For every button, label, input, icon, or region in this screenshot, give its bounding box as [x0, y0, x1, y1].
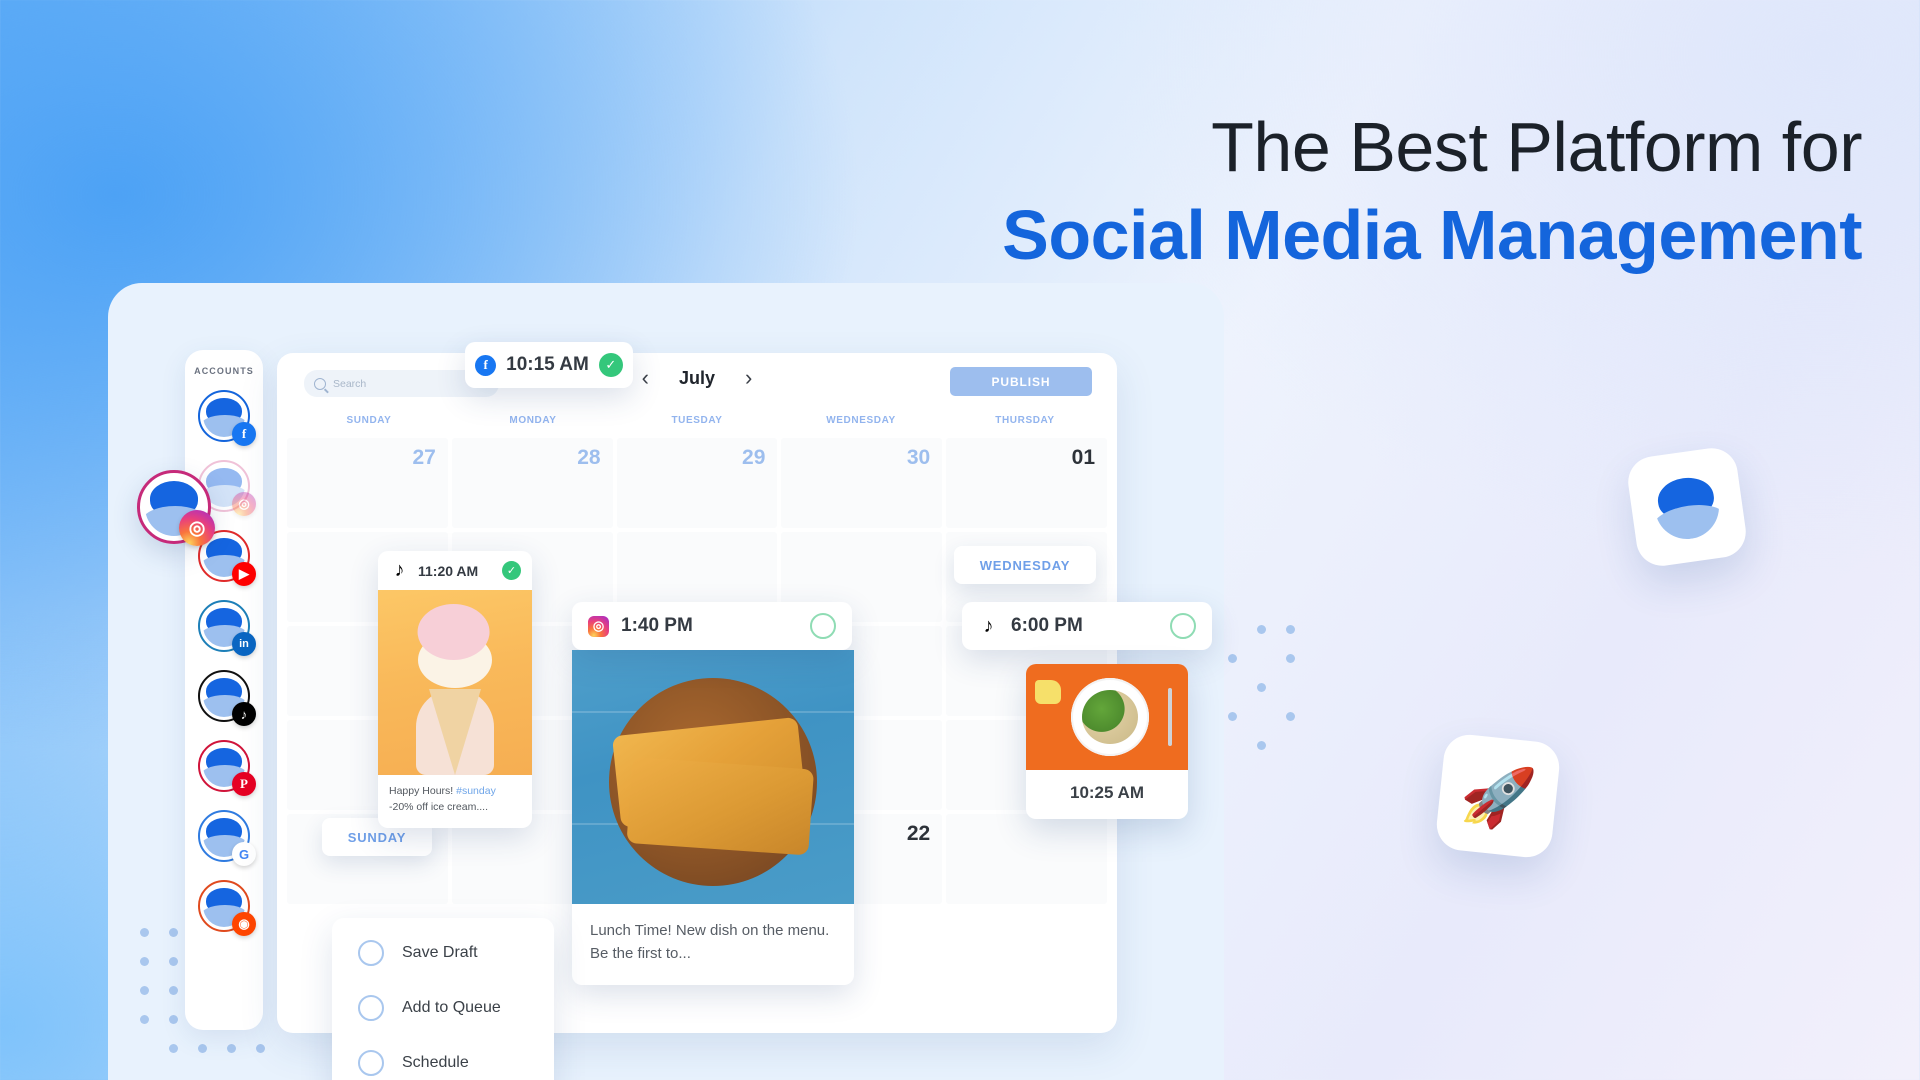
caption-text: Happy Hours!	[389, 785, 456, 797]
decorative-dots-right	[1228, 625, 1295, 750]
circle-outline-icon	[810, 613, 836, 639]
chevron-left-icon[interactable]: ‹	[642, 367, 649, 389]
post-image-ice-cream	[378, 590, 532, 775]
post-image-salad	[1026, 664, 1188, 770]
post-card-header: ♪ 11:20 AM ✓	[378, 551, 532, 590]
account-item-linkedin[interactable]: in	[198, 600, 250, 652]
current-month-label: July	[679, 368, 715, 389]
post-card-header-instagram[interactable]: ◎ 1:40 PM	[572, 602, 852, 650]
tiktok-icon: ♪	[232, 702, 256, 726]
action-label: Save Draft	[402, 944, 478, 962]
post-time: 1:40 PM	[621, 615, 693, 637]
linkedin-icon: in	[232, 632, 256, 656]
post-card-tiktok-morning[interactable]: ♪ 11:20 AM ✓ Happy Hours! #sunday -20% o…	[378, 551, 532, 828]
calendar-cell[interactable]: 27	[287, 438, 448, 528]
account-item-pinterest[interactable]: P	[198, 740, 250, 792]
pinterest-icon: P	[232, 772, 256, 796]
action-schedule[interactable]: Schedule	[358, 1050, 554, 1076]
check-circle-icon: ✓	[502, 561, 521, 580]
check-circle-icon: ✓	[599, 353, 623, 377]
account-item-google[interactable]: G	[198, 810, 250, 862]
day-header-monday: MONDAY	[451, 415, 615, 438]
post-time: 10:15 AM	[506, 354, 589, 376]
google-icon: G	[232, 842, 256, 866]
day-chip-wednesday[interactable]: WEDNESDAY	[954, 546, 1096, 584]
day-number: 29	[742, 446, 765, 470]
rocket-icon: 🚀	[1434, 732, 1561, 859]
headline-line-2: Social Media Management	[1002, 196, 1862, 274]
post-caption: Lunch Time! New dish on the menu. Be the…	[572, 904, 854, 985]
accounts-sidebar: ACCOUNTS f ◎ ▶ in	[185, 350, 263, 1030]
day-header-tuesday: TUESDAY	[615, 415, 779, 438]
day-header-wednesday: WEDNESDAY	[779, 415, 943, 438]
radio-icon[interactable]	[358, 995, 384, 1021]
reddit-icon: ◉	[232, 912, 256, 936]
day-number: 22	[907, 822, 930, 846]
radio-icon[interactable]	[358, 940, 384, 966]
account-item-facebook[interactable]: f	[198, 390, 250, 442]
day-number: 01	[1072, 446, 1095, 470]
facebook-icon: f	[232, 422, 256, 446]
instagram-icon: ◎	[232, 492, 256, 516]
tiktok-icon: ♪	[389, 560, 410, 581]
post-time: 6:00 PM	[1011, 615, 1083, 637]
publish-button[interactable]: PUBLISH	[950, 367, 1092, 396]
facebook-icon: f	[475, 355, 496, 376]
post-action-list: Save Draft Add to Queue Schedule	[332, 918, 554, 1080]
calendar-cell[interactable]: 28	[452, 438, 613, 528]
instagram-icon: ◎	[179, 510, 215, 546]
calendar-cell[interactable]: 30	[781, 438, 942, 528]
action-label: Schedule	[402, 1054, 469, 1072]
search-icon	[314, 378, 326, 390]
post-image-sandwich	[572, 650, 854, 904]
month-navigation: ‹ July ›	[642, 367, 753, 389]
day-header-thursday: THURSDAY	[943, 415, 1107, 438]
action-add-to-queue[interactable]: Add to Queue	[358, 995, 554, 1021]
post-time: 11:20 AM	[418, 563, 478, 579]
post-time: 10:25 AM	[1026, 770, 1188, 819]
post-status-bar-facebook[interactable]: f 10:15 AM ✓	[465, 342, 633, 388]
radio-icon[interactable]	[358, 1050, 384, 1076]
calendar-cell[interactable]: 29	[617, 438, 778, 528]
search-placeholder: Search	[333, 378, 366, 390]
tiktok-icon: ♪	[978, 616, 999, 637]
calendar-toolbar: Search ‹ July › PUBLISH	[277, 353, 1117, 415]
accounts-title: ACCOUNTS	[194, 366, 254, 376]
account-item-selected-instagram[interactable]: ◎	[137, 470, 211, 544]
calendar-cell[interactable]	[946, 814, 1107, 904]
headline: The Best Platform for Social Media Manag…	[1002, 108, 1862, 275]
account-item-tiktok[interactable]: ♪	[198, 670, 250, 722]
youtube-icon: ▶	[232, 562, 256, 586]
circle-outline-icon	[1170, 613, 1196, 639]
day-number: 27	[412, 446, 435, 470]
action-label: Add to Queue	[402, 999, 501, 1017]
headline-line-1: The Best Platform for	[1002, 108, 1862, 186]
caption-rest: -20% off ice cream....	[389, 801, 488, 813]
chevron-right-icon[interactable]: ›	[745, 367, 752, 389]
day-number: 30	[907, 446, 930, 470]
calendar-cell[interactable]: 01	[946, 438, 1107, 528]
account-item-reddit[interactable]: ◉	[198, 880, 250, 932]
calendar-day-headers: SUNDAY MONDAY TUESDAY WEDNESDAY THURSDAY	[277, 415, 1117, 438]
post-card-salad[interactable]: 10:25 AM	[1026, 664, 1188, 819]
action-save-draft[interactable]: Save Draft	[358, 940, 554, 966]
caption-hashtag: #sunday	[456, 785, 496, 797]
instagram-icon: ◎	[588, 616, 609, 637]
day-header-sunday: SUNDAY	[287, 415, 451, 438]
post-card-instagram-lunch[interactable]: Lunch Time! New dish on the menu. Be the…	[572, 650, 854, 985]
day-number: 28	[577, 446, 600, 470]
post-card-header-tiktok-evening[interactable]: ♪ 6:00 PM	[962, 602, 1212, 650]
post-caption: Happy Hours! #sunday -20% off ice cream.…	[378, 775, 532, 828]
app-logo-icon	[1625, 445, 1749, 569]
